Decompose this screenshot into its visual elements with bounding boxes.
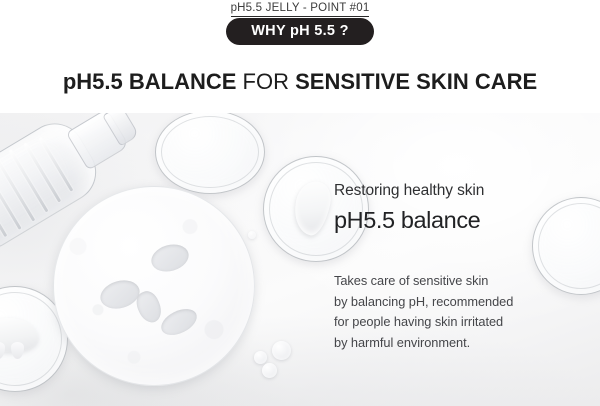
sheet-mask	[53, 186, 255, 386]
petri-dish-top	[155, 113, 265, 194]
paragraph-line: by balancing pH, recommended	[334, 292, 513, 313]
sheet-mask-texture	[54, 187, 254, 385]
paragraph-line: by harmful environment.	[334, 333, 513, 354]
gel-droplet	[262, 363, 277, 378]
copy-kicker: Restoring healthy skin	[334, 181, 484, 200]
gel-droplet	[272, 341, 291, 360]
petri-dish-rim	[538, 203, 600, 289]
page-title: pH5.5 BALANCE FOR SENSITIVE SKIN CARE	[0, 68, 600, 95]
paragraph-line: for people having skin irritated	[334, 312, 513, 333]
promo-banner: pH5.5 JELLY - POINT #01 WHY pH 5.5 ? pH5…	[0, 0, 600, 406]
copy-subtitle: pH5.5 balance	[334, 205, 480, 235]
header-section: pH5.5 JELLY - POINT #01 WHY pH 5.5 ? pH5…	[0, 0, 600, 113]
why-ph-badge: WHY pH 5.5 ?	[226, 18, 374, 45]
headline-part-3: SENSITIVE SKIN CARE	[295, 69, 537, 94]
gel-droplet	[254, 351, 267, 364]
petri-dish-rim	[161, 116, 259, 188]
eyebrow-label: pH5.5 JELLY - POINT #01	[0, 1, 600, 17]
paragraph-line: Takes care of sensitive skin	[334, 271, 513, 292]
headline-part-1: pH5.5 BALANCE	[63, 69, 237, 94]
gel-droplet	[248, 231, 256, 239]
copy-paragraph: Takes care of sensitive skin by balancin…	[334, 271, 513, 353]
badge-label: WHY pH 5.5 ?	[251, 24, 349, 39]
eyebrow-text: pH5.5 JELLY - POINT #01	[231, 1, 370, 17]
product-photo: Restoring healthy skin pH5.5 balance Tak…	[0, 113, 600, 406]
headline-part-2: FOR	[243, 69, 289, 94]
